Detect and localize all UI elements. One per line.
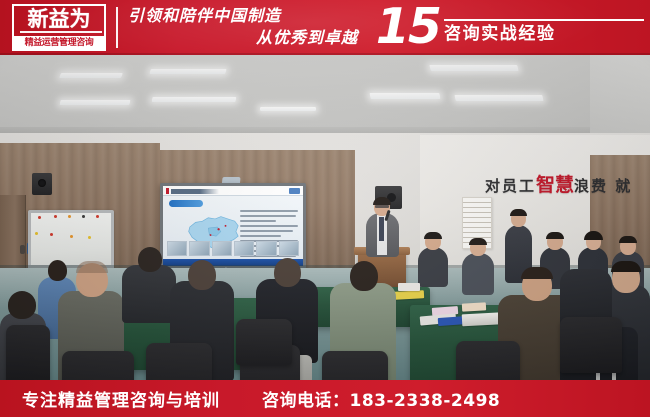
slide-thumbnail	[256, 241, 276, 256]
attendee-body	[462, 253, 494, 295]
attendee-head	[188, 260, 216, 290]
slide-thumbnail	[189, 241, 209, 256]
footer-phone-label: 咨询电话：	[262, 391, 350, 411]
whiteboard-magnet	[50, 233, 53, 236]
ceiling	[0, 55, 650, 133]
slide-body-text	[240, 210, 298, 265]
wall-slogan-before: 对员工	[485, 177, 536, 195]
years-text-block: 年精益运营管理 咨询实战经验	[444, 0, 644, 55]
presenter-tie	[379, 217, 384, 241]
slide-title-text	[171, 189, 219, 194]
footer-bar: 专注精益管理咨询与培训 咨询电话：183-2338-2498	[0, 380, 650, 417]
attendee-body	[122, 265, 176, 323]
attendee-head	[8, 291, 36, 319]
attendee-hair	[424, 232, 442, 239]
door-handle-icon	[20, 245, 25, 254]
attendee-hair	[619, 236, 637, 243]
slide-header	[163, 186, 303, 196]
header-slogan: 引领和陪伴中国制造 从优秀到卓越	[126, 5, 376, 51]
logo-box: 新益为 精益运营管理咨询	[12, 4, 106, 51]
presenter-hair	[373, 197, 391, 205]
slide-section-tag	[169, 200, 203, 207]
chair	[236, 319, 292, 365]
whiteboard-magnet	[96, 215, 99, 218]
slide-thumbnail	[212, 241, 232, 256]
whiteboard-magnet	[38, 216, 41, 219]
chair	[146, 343, 212, 380]
ceiling-light	[454, 95, 543, 101]
standing-attendee-hair	[510, 209, 527, 216]
ceiling-light	[149, 69, 226, 74]
attendee-hair	[546, 232, 564, 239]
experience-badge: 15 年精益运营管理 咨询实战经验	[376, 2, 644, 53]
slide-accent-mark	[166, 188, 169, 194]
years-line-1: 年精益运营管理	[444, 0, 644, 21]
attendee-hair	[611, 261, 641, 272]
company-logo[interactable]: 新益为 精益运营管理咨询	[12, 4, 106, 51]
attendee-head	[48, 260, 67, 281]
attendee-head	[350, 261, 378, 291]
attendee-hair	[76, 261, 108, 273]
logo-underline-stroke	[20, 31, 102, 33]
years-number: 15	[376, 2, 440, 51]
projection-screen[interactable]	[163, 186, 303, 266]
ceiling-light	[59, 100, 130, 105]
logo-company-name: 新益为	[28, 7, 91, 31]
slogan-line-1: 引领和陪伴中国制造	[126, 5, 376, 27]
slogan-line-2: 从优秀到卓越	[126, 27, 376, 48]
chair	[456, 341, 520, 380]
whiteboard-magnet	[35, 232, 38, 235]
whiteboard-magnet	[70, 235, 73, 238]
header-divider	[116, 7, 118, 48]
whiteboard-magnet	[88, 236, 91, 239]
promo-banner-page: 新益为 精益运营管理咨询 引领和陪伴中国制造 从优秀到卓越 15 年精益运营管理…	[0, 0, 650, 417]
slide-thumbnail	[167, 241, 187, 256]
whiteboard-surface[interactable]	[31, 213, 111, 265]
attendee-body	[418, 247, 448, 287]
glasses-icon	[375, 205, 389, 208]
chair	[322, 351, 388, 380]
footer-contact[interactable]: 咨询电话：183-2338-2498	[262, 386, 500, 411]
attendee-head	[274, 258, 301, 287]
attendee-hair	[469, 238, 487, 245]
footer-tagline: 专注精益管理咨询与培训	[22, 386, 220, 411]
whiteboard-magnet	[68, 215, 71, 218]
wall-slogan-highlight: 智慧	[536, 174, 574, 196]
wall-slogan-after: 浪费 就	[574, 177, 632, 195]
ceiling-light	[369, 93, 440, 99]
speaker-cone-icon	[38, 179, 46, 187]
attendee-head	[138, 247, 162, 272]
table-document	[398, 283, 420, 291]
slide-nav-button	[289, 188, 300, 194]
ceiling-light	[59, 73, 123, 78]
ceiling-light	[260, 107, 316, 111]
whiteboard-magnet	[54, 215, 57, 218]
attendee-hair	[521, 267, 553, 279]
ceiling-corner	[590, 55, 650, 137]
header-banner: 新益为 精益运营管理咨询 引领和陪伴中国制造 从优秀到卓越 15 年精益运营管理…	[0, 0, 650, 55]
footer-phone-number: 183-2338-2498	[350, 391, 501, 411]
table-document	[462, 302, 486, 311]
table-document	[394, 290, 424, 300]
chair	[6, 325, 50, 380]
ceiling-light	[429, 65, 518, 71]
wall-slogan: 对员工智慧浪费 就	[485, 173, 650, 197]
years-line-2: 咨询实战经验	[444, 21, 629, 55]
chair	[62, 351, 134, 380]
logo-tagline: 精益运营管理咨询	[14, 36, 104, 49]
slide-thumbnail	[279, 241, 299, 256]
ceiling-light	[152, 97, 237, 102]
slide-thumbnail	[234, 241, 254, 256]
chair	[560, 317, 622, 373]
training-room-photo: 对员工智慧浪费 就	[0, 55, 650, 380]
slide-thumbnail-strip	[167, 241, 299, 256]
whiteboard-magnet	[82, 215, 85, 218]
